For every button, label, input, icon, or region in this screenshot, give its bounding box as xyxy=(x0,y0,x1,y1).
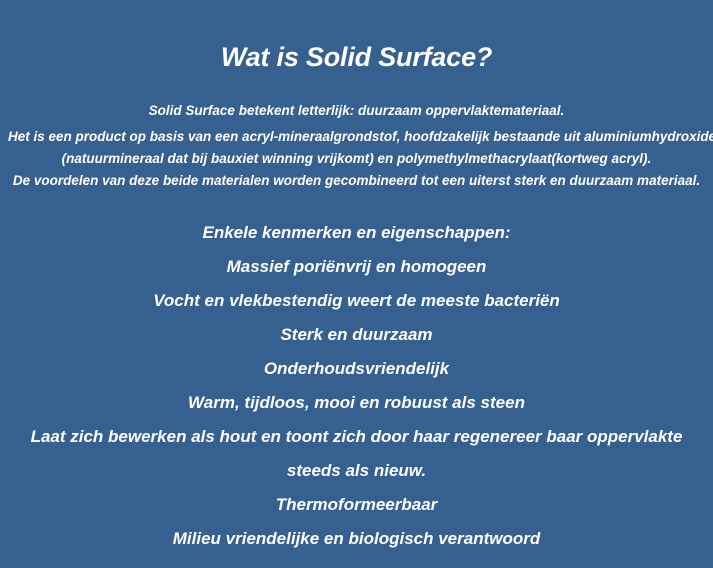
list-item: Enkele kenmerken en eigenschappen: xyxy=(6,216,707,250)
presentation-slide: Wat is Solid Surface? Solid Surface bete… xyxy=(0,0,713,568)
feature-list: Enkele kenmerken en eigenschappen: Massi… xyxy=(6,216,707,556)
intro-line: Het is een product op basis van een acry… xyxy=(8,126,705,148)
list-item: Milieu vriendelijke en biologisch verant… xyxy=(6,522,707,556)
list-item: Sterk en duurzaam xyxy=(6,318,707,352)
slide-subtitle: Solid Surface betekent letterlijk: duurz… xyxy=(0,102,713,120)
intro-paragraph: Het is een product op basis van een acry… xyxy=(8,126,705,192)
intro-line: De voordelen van deze beide materialen w… xyxy=(8,170,705,192)
list-item: Massief poriënvrij en homogeen xyxy=(6,250,707,284)
list-item: Onderhoudsvriendelijk xyxy=(6,352,707,386)
intro-line: (natuurmineraal dat bij bauxiet winning … xyxy=(8,148,705,170)
list-item: Laat zich bewerken als hout en toont zic… xyxy=(6,420,707,488)
list-item: Warm, tijdloos, mooi en robuust als stee… xyxy=(6,386,707,420)
page-title: Wat is Solid Surface? xyxy=(0,40,713,74)
list-item: Vocht en vlekbestendig weert de meeste b… xyxy=(6,284,707,318)
list-item: Thermoformeerbaar xyxy=(6,488,707,522)
